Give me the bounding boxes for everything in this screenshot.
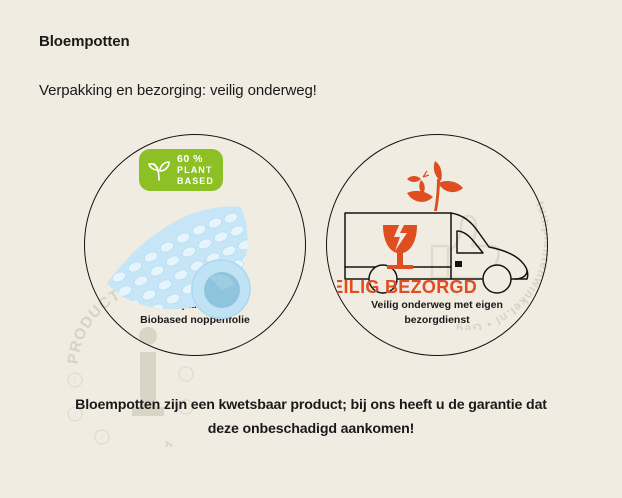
svg-text:i: i: [74, 376, 76, 385]
plant-based-line1: PLANT: [177, 165, 214, 176]
footer-message-line1: Bloempotten zijn een kwetsbaar product; …: [31, 393, 591, 417]
plant-based-line2: BASED: [177, 176, 214, 187]
svg-text:i: i: [185, 370, 187, 379]
van-label: VEILIG BEZORGD: [337, 277, 477, 297]
van-handle: [455, 261, 462, 267]
panel-packaging: 60 % PLANT BASED: [84, 134, 306, 356]
footer-message: Bloempotten zijn een kwetsbaar product; …: [31, 393, 591, 441]
broken-glass-fragile-icon: [383, 223, 417, 269]
sprout-icon: [145, 155, 175, 185]
bubble-wrap-illustration: [99, 197, 295, 322]
bubble-roll-end: [191, 259, 251, 319]
page-subtitle: Verpakking en bezorging: veilig onderweg…: [39, 82, 317, 99]
panel-delivery: VEILIG BEZORGD Veilig onderweg met eigen…: [326, 134, 548, 356]
footer-message-line2: deze onbeschadigd aankomen!: [31, 417, 591, 441]
delivery-caption-line2: bezorgdienst: [327, 313, 547, 328]
plant-based-percent: 60 %: [177, 154, 214, 165]
plant-butterfly-icon: [407, 161, 463, 211]
plant-based-badge-text: 60 % PLANT BASED: [177, 154, 214, 187]
plant-based-badge: 60 % PLANT BASED: [139, 149, 223, 191]
product-info-graphic: PRODUCTINFO i i: [0, 0, 622, 498]
page-title: Bloempotten: [39, 33, 130, 50]
delivery-van-illustration: VEILIG BEZORGD: [337, 153, 541, 313]
